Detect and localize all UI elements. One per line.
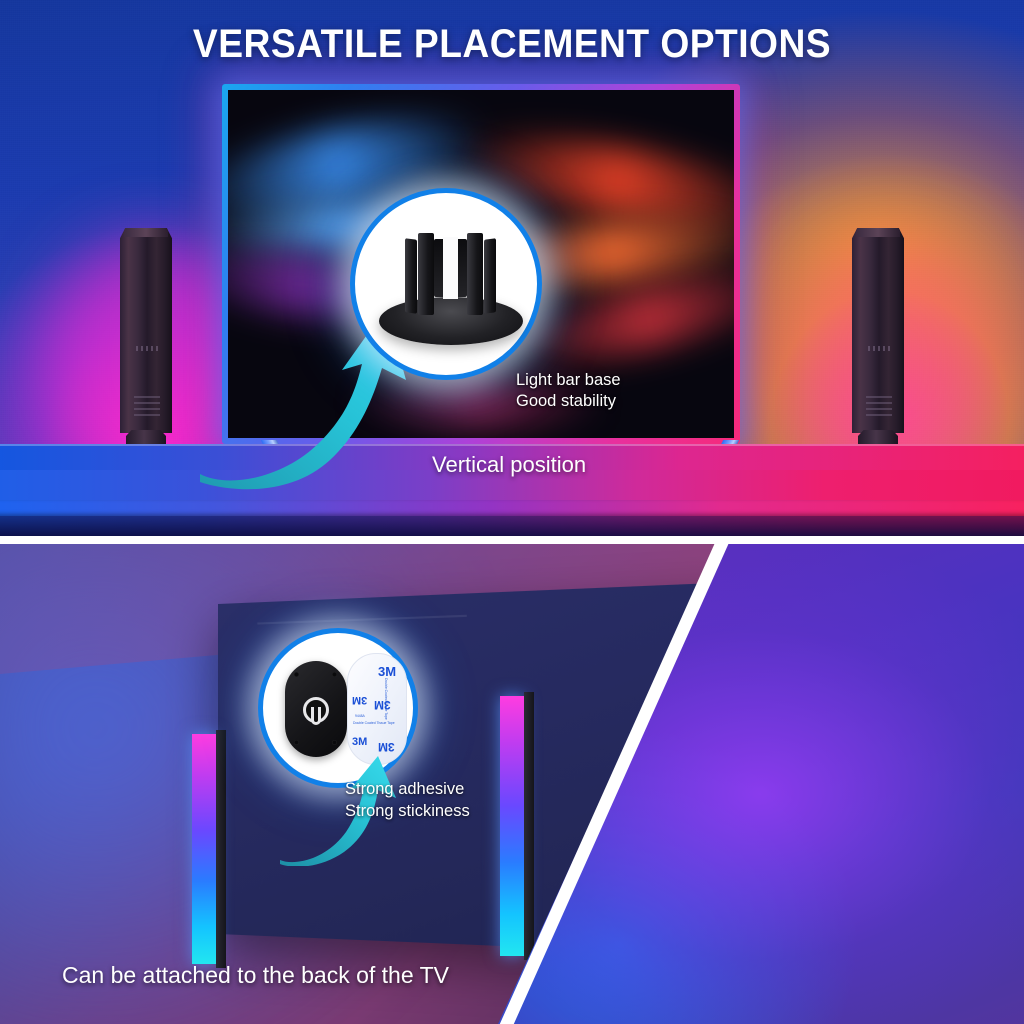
base-bracket-fin	[418, 233, 434, 315]
light-bar-led-face	[192, 734, 216, 964]
pad-brand-label: 3M	[378, 740, 395, 754]
vertical-position-label: Vertical position	[432, 452, 586, 478]
pad-brand-label: 3M	[352, 694, 367, 706]
adhesive-callout-line2: Strong stickiness	[345, 800, 470, 822]
light-bar-base-callout	[350, 188, 542, 380]
light-bar-vent-icon	[134, 394, 160, 416]
top-scene-panel: Light bar base Good stability Vertical p…	[0, 0, 1024, 536]
console-table-shadow	[0, 516, 1024, 536]
light-bar-indicator-icon	[868, 346, 890, 351]
base-callout-line1: Light bar base	[516, 370, 621, 391]
plate-screw-icon	[294, 672, 299, 677]
light-bar-side-shell	[524, 692, 534, 960]
light-bar-led-face	[500, 696, 524, 956]
base-bracket-fin	[405, 238, 417, 314]
adhesive-callout-label: Strong adhesive Strong stickiness	[345, 778, 470, 823]
mounted-light-bar-2	[500, 696, 534, 956]
base-bracket-fin	[484, 238, 496, 314]
light-bar-indicator-icon	[136, 346, 158, 351]
page-title: VERSATILE PLACEMENT OPTIONS	[36, 22, 988, 67]
light-bar-top-cap	[856, 228, 900, 237]
tv-rear-seam	[257, 615, 466, 625]
base-bracket-fin	[467, 233, 483, 315]
bottom-left-caption: Can be attached to the back of the TV	[62, 962, 449, 989]
pad-brand-label: 3M	[378, 664, 396, 679]
plate-screw-icon	[294, 740, 299, 745]
pad-desc-label: Double Coated Tissue Tape	[353, 721, 395, 725]
adhesive-callout-line1: Strong adhesive	[345, 778, 470, 800]
base-callout-label: Light bar base Good stability	[516, 370, 621, 413]
mounted-light-bar-1	[192, 734, 226, 964]
light-bar-vent-icon	[866, 394, 892, 416]
plate-screw-icon	[332, 672, 337, 677]
mount-plate-icon	[285, 661, 347, 757]
pad-desc-label: Double Coated Tissue Tape	[384, 678, 388, 720]
base-callout-line2: Good stability	[516, 391, 621, 412]
pad-code-label: 9448A	[355, 714, 365, 718]
panel-divider-horizontal	[0, 536, 1024, 544]
product-feature-image: Light bar base Good stability Vertical p…	[0, 0, 1024, 1024]
base-disc-icon	[379, 297, 523, 345]
base-bracket-slot	[443, 237, 458, 299]
pad-brand-label: 3M	[352, 736, 367, 748]
keyhole-slot-icon	[311, 707, 321, 725]
light-bar-top-cap	[124, 228, 168, 237]
console-table-lip	[0, 500, 1024, 516]
plate-screw-icon	[332, 740, 337, 745]
adhesive-pad-3m: 3M 3M 3M 3M 3M 9448A Double Coated Tissu…	[347, 653, 407, 765]
light-bar-side-shell	[216, 730, 226, 968]
pad-brand-label: 3M	[374, 698, 391, 712]
